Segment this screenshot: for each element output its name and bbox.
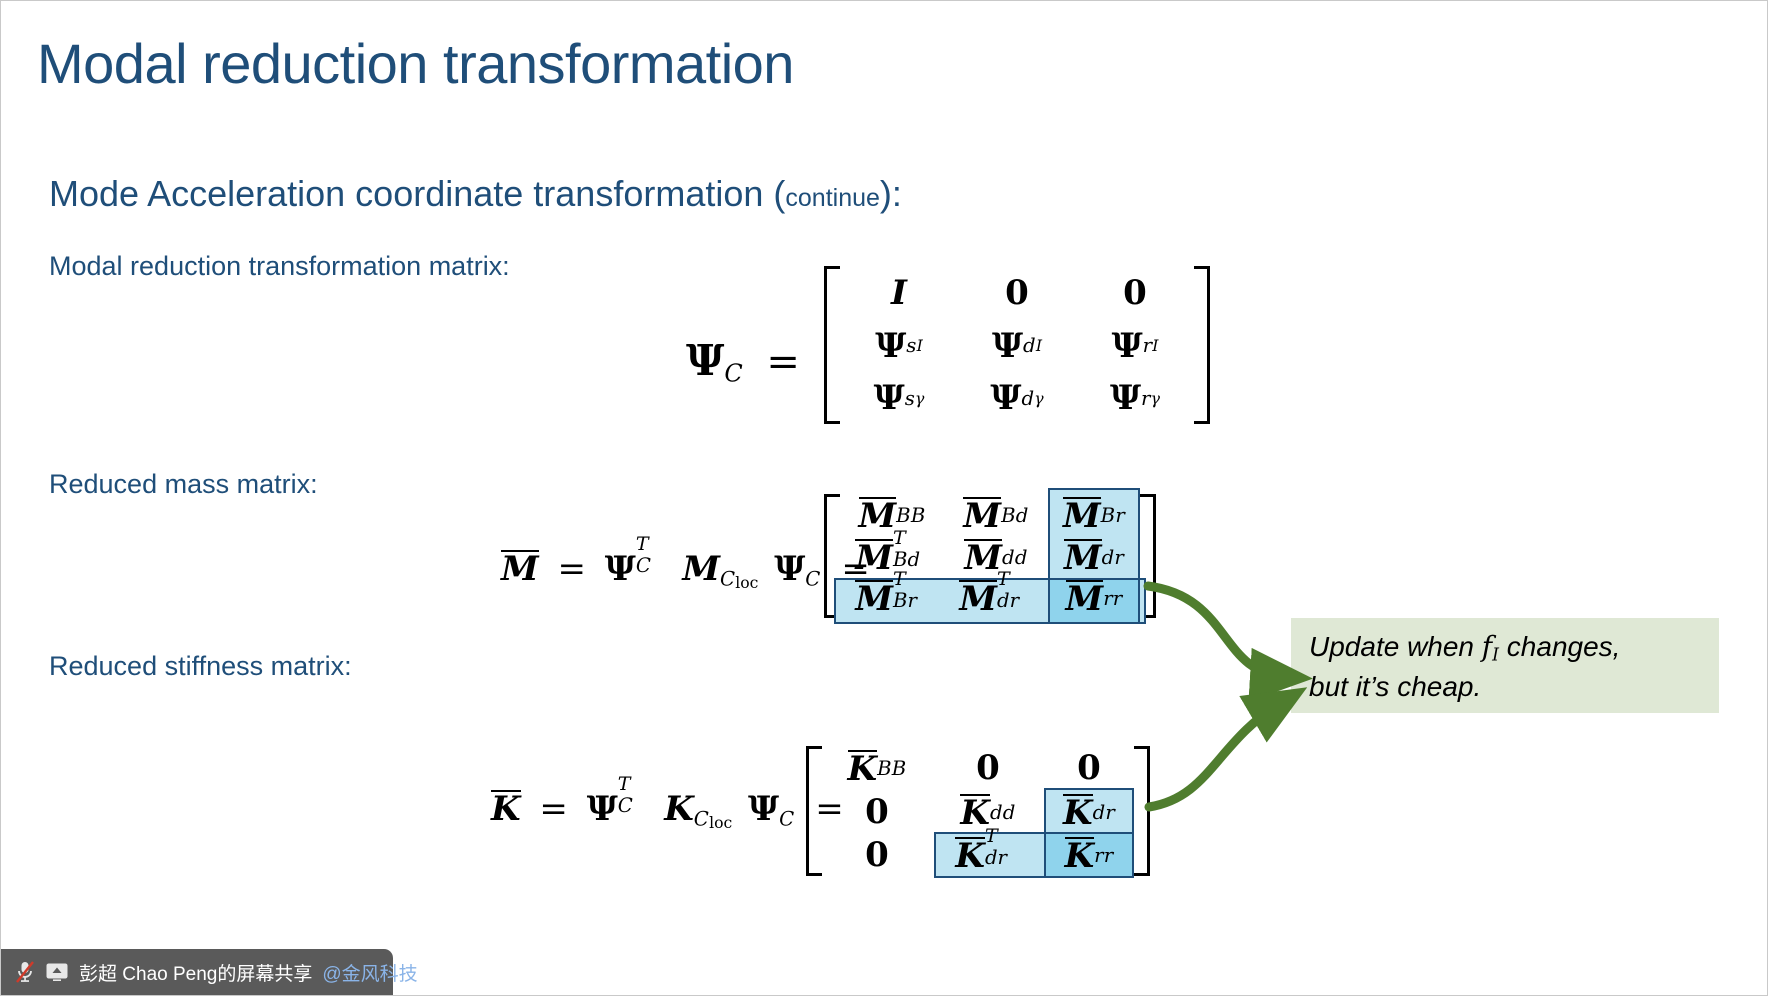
cell-sub: dr [1102, 546, 1124, 569]
cell-subsub: I [1036, 336, 1042, 355]
cell-sub: dr [985, 846, 1007, 869]
cell-base: M [959, 580, 997, 615]
cell-base: M [963, 497, 1001, 532]
page-title: Modal reduction transformation [37, 31, 794, 96]
stiff-equals-1: = [531, 789, 576, 829]
cell-base: Ψ [990, 378, 1021, 418]
cell-sub: Br [1101, 504, 1125, 527]
matrix-cell-mass-1-3: MBr [1048, 494, 1140, 536]
arrow-from-stiffness-matrix [1149, 701, 1284, 807]
cell-base: M [855, 580, 893, 615]
cell-sub: BB [877, 757, 906, 780]
bracket-left [824, 266, 840, 424]
f-base: f [1482, 630, 1492, 663]
matrix-cell-stiff-3-1: 0 [822, 834, 932, 876]
mass-equals-1: = [549, 549, 594, 589]
psi-subscript: C [724, 360, 743, 388]
label-reduced-stiffness-matrix: Reduced stiffness matrix: [49, 651, 352, 682]
matrix-cell-psi-2-1: ΨsI [840, 319, 958, 372]
label-reduced-stiffness-matrix-text: Reduced stiffness matrix: [49, 651, 352, 681]
cell-sub: dr [1093, 801, 1115, 824]
f-subscript: I [1492, 645, 1499, 665]
cell-sub: Bd [1001, 504, 1029, 527]
share-org-label: @金风科技 [322, 959, 417, 986]
cell-subsub: I [1152, 336, 1158, 355]
cell-sub: s [905, 387, 915, 410]
cell-base: Ψ [992, 326, 1023, 366]
matrix-cell-psi-1-2: 0 [958, 266, 1076, 319]
matrix-cell-stiff-2-1: 0 [822, 790, 932, 834]
reduced-mass-matrix: MBB MBd MBr MTBd Mdd Mdr MTBr MTdr Mrr [824, 494, 1156, 618]
callout-line1-pre: Update when [1309, 631, 1482, 662]
subtitle-continue-text: continue [785, 184, 880, 212]
cell-base: M [859, 497, 897, 532]
cell-base: Ψ [1110, 378, 1141, 418]
matrix-cell-psi-2-2: ΨdI [958, 319, 1076, 372]
label-transformation-matrix-text: Modal reduction transformation matrix: [49, 251, 510, 281]
cell-base: K [955, 837, 985, 872]
psi-c-matrix: I 0 0 ΨsI ΨdI ΨrI Ψsγ Ψdγ Ψrγ [824, 266, 1210, 424]
cell-sup: T [893, 568, 906, 590]
cell-base: 0 [865, 835, 889, 875]
psi-sub-C: C [618, 794, 633, 817]
m-cloc-symbol: M [682, 549, 720, 589]
matrix-cell-mass-1-2: MBd [944, 494, 1048, 536]
matrix-cell-psi-3-1: Ψsγ [840, 372, 958, 424]
matrix-cell-psi-1-1: I [840, 266, 958, 319]
cell-base: 0 [1123, 273, 1147, 313]
cell-sub: rr [1094, 844, 1113, 867]
cell-base: 0 [976, 748, 1000, 788]
m-cloc-sub: C [720, 568, 735, 591]
matrix-cell-psi-2-3: ΨrI [1076, 319, 1194, 372]
cell-subsub: γ [1151, 389, 1160, 408]
callout-line1-post: changes, [1499, 631, 1620, 662]
matrix-cell-mass-2-3: Mdr [1048, 536, 1140, 578]
psi2-symbol: Ψ [769, 549, 805, 589]
reduced-stiffness-matrix: KBB 0 0 0 Kdd Kdr 0 KTdr Krr [806, 746, 1150, 876]
label-reduced-mass-matrix-text: Reduced mass matrix: [49, 469, 318, 499]
k-bar-symbol: K [491, 790, 521, 825]
matrix-cell-psi-1-3: 0 [1076, 266, 1194, 319]
mass-equation-lhs: M = ΨTC MCloc ΨC = [501, 546, 870, 592]
label-transformation-matrix: Modal reduction transformation matrix: [49, 251, 510, 282]
cell-base: 0 [1005, 273, 1029, 313]
cell-subsub: γ [1034, 389, 1043, 408]
psi-sup-T: T [636, 533, 649, 555]
cell-base: M [1064, 539, 1102, 574]
label-reduced-mass-matrix: Reduced mass matrix: [49, 469, 318, 500]
cell-base: K [1065, 837, 1095, 872]
cell-base: 0 [865, 792, 889, 832]
psi-equals-sign: = [754, 339, 800, 385]
psi2-sub: C [779, 808, 794, 831]
share-owner-label: 彭超 Chao Peng的屏幕共享 [79, 959, 312, 986]
cell-sub: dd [990, 801, 1016, 824]
cell-sub: r [1143, 334, 1153, 357]
bracket-right [1134, 746, 1150, 876]
psi-sub-C: C [636, 554, 651, 577]
cell-base: Ψ [874, 378, 905, 418]
cell-sub: d [1023, 334, 1036, 357]
cell-sub: BB [896, 504, 925, 527]
cell-subsub: I [917, 336, 923, 355]
m-cloc-subsub: loc [735, 573, 758, 592]
callout-line-1: Update when fI changes, [1309, 628, 1701, 668]
cell-sub: dd [1002, 546, 1028, 569]
stiffness-equation-lhs: K = ΨTC KCloc ΨC = [491, 786, 844, 832]
matrix-cell-psi-3-3: Ψrγ [1076, 372, 1194, 424]
cell-sup: T [985, 825, 998, 847]
cell-base: I [891, 273, 907, 313]
callout-note: Update when fI changes, but it’s cheap. [1291, 618, 1719, 713]
m-bar-symbol: M [501, 550, 539, 585]
matrix-cell-stiff-1-2: 0 [932, 746, 1044, 790]
matrix-cell-mass-3-3: Mrr [1048, 578, 1140, 618]
matrix-cell-stiff-1-3: 0 [1044, 746, 1134, 790]
cell-base: 0 [1077, 748, 1101, 788]
matrix-cell-mass-3-2: MTdr [944, 578, 1048, 618]
cell-sup: T [893, 527, 906, 549]
k-cloc-symbol: K [664, 789, 694, 829]
cell-sub: s [906, 334, 916, 357]
cell-base: M [1063, 497, 1101, 532]
cell-base: M [855, 539, 893, 574]
cell-sup: T [997, 568, 1010, 590]
cell-base: Ψ [875, 326, 906, 366]
cell-sub: dr [997, 589, 1019, 612]
cell-sub: Br [893, 589, 917, 612]
cell-sub: d [1021, 387, 1034, 410]
psi-sup-T: T [618, 773, 631, 795]
subtitle-main-text: Mode Acceleration coordinate transformat… [49, 173, 785, 214]
psi2-sub: C [805, 568, 820, 591]
slide-subtitle: Mode Acceleration coordinate transformat… [49, 173, 902, 215]
subtitle-end-text: ): [880, 173, 902, 214]
psi2-symbol: Ψ [743, 789, 779, 829]
psi-symbol: Ψ [686, 336, 724, 385]
arrow-from-mass-matrix [1148, 586, 1286, 677]
page-title-text: Modal reduction transformation [37, 32, 794, 95]
psi-symbol: Ψ [605, 549, 636, 589]
bracket-right [1194, 266, 1210, 424]
cell-base: K [1063, 794, 1093, 829]
psi-symbol: Ψ [587, 789, 618, 829]
cell-base: K [848, 750, 878, 785]
matrix-cell-stiff-3-2: KTdr [932, 834, 1044, 876]
k-cloc-sub: C [694, 808, 709, 831]
matrix-cell-stiff-3-3: Krr [1044, 834, 1134, 876]
matrix-cell-stiff-2-3: Kdr [1044, 790, 1134, 834]
bracket-left [806, 746, 822, 876]
cell-base: Ψ [1112, 326, 1143, 366]
cell-base: M [1066, 580, 1104, 615]
screen-share-icon[interactable] [45, 962, 69, 982]
callout-line-2: but it’s cheap. [1309, 668, 1701, 706]
cell-sub: r [1141, 387, 1151, 410]
matrix-cell-stiff-1-1: KBB [822, 746, 932, 790]
callout-f-symbol: fI [1482, 630, 1499, 663]
psi-equation-lhs: ΨC = [686, 336, 800, 388]
matrix-cell-psi-3-2: Ψdγ [958, 372, 1076, 424]
k-cloc-subsub: loc [709, 813, 732, 832]
cell-subsub: γ [915, 389, 924, 408]
screen-share-taskbar[interactable]: 彭超 Chao Peng的屏幕共享 @金风科技 [1, 949, 393, 995]
microphone-muted-icon[interactable] [15, 960, 35, 984]
matrix-cell-mass-3-1: MTBr [840, 578, 944, 618]
cell-sub: rr [1103, 587, 1122, 610]
